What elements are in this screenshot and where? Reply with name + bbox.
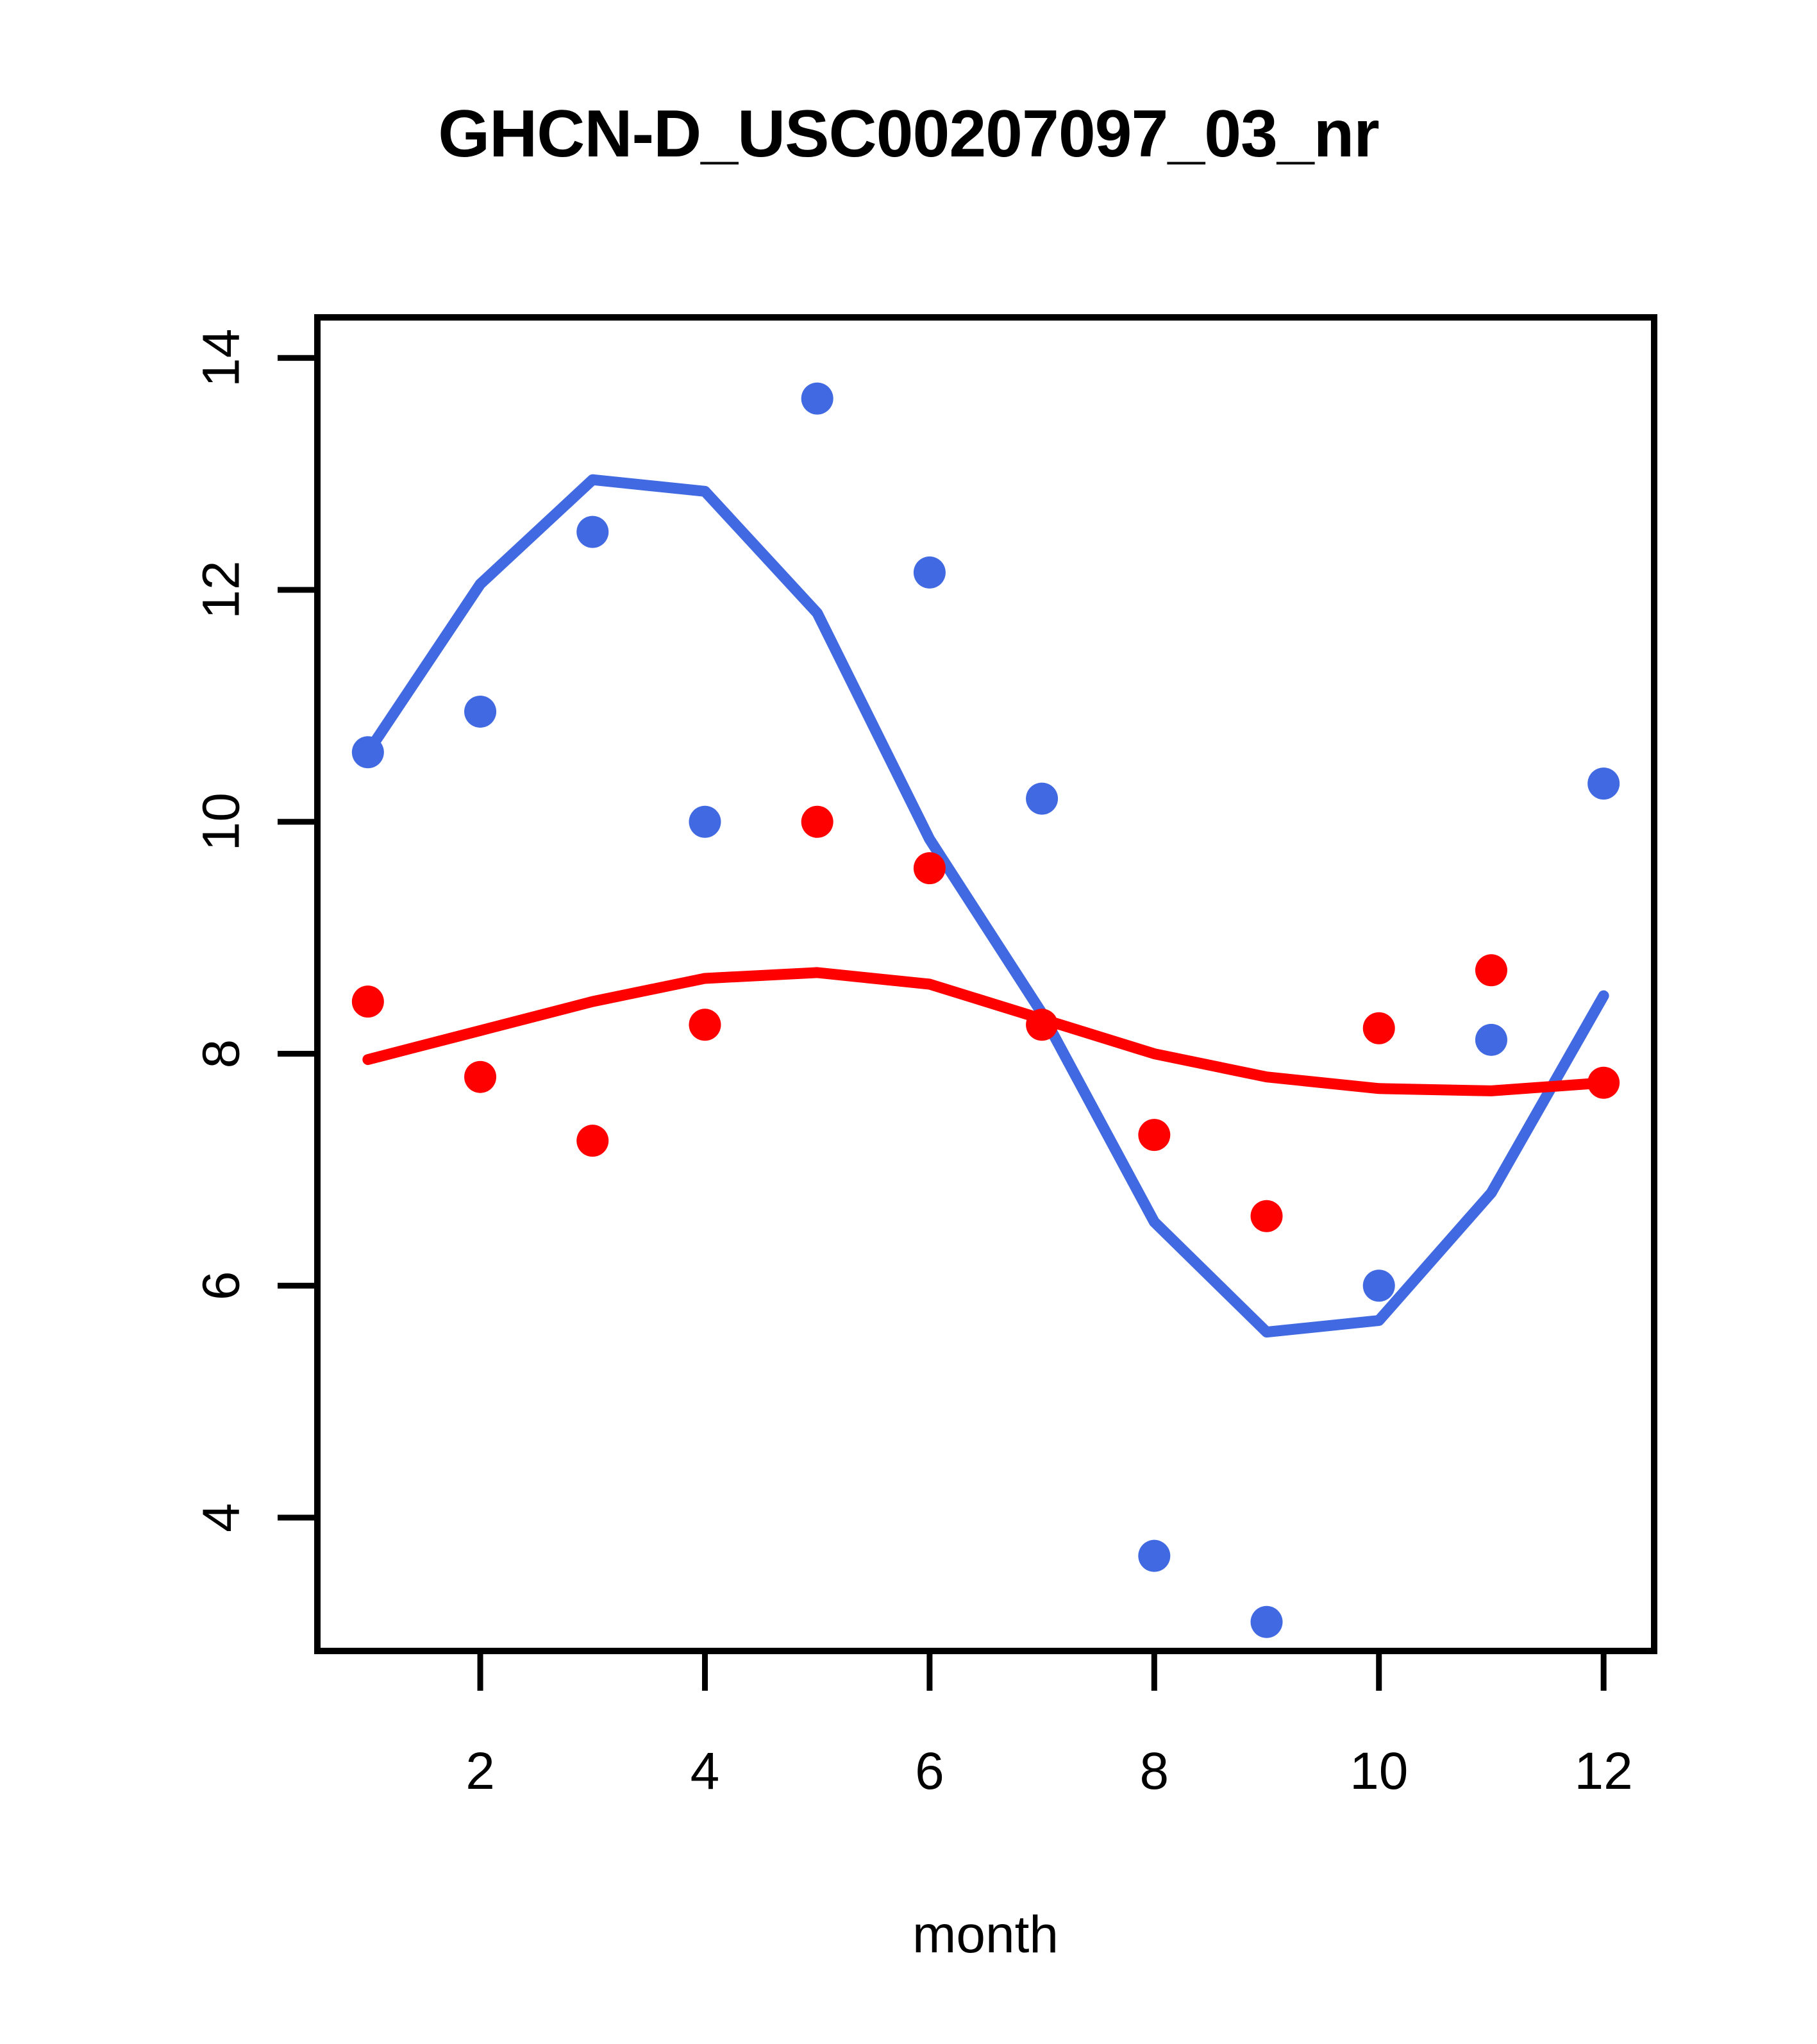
data-point <box>352 985 384 1018</box>
data-point <box>914 557 946 589</box>
data-point <box>464 1061 496 1093</box>
x-axis-ticks <box>480 1651 1603 1691</box>
data-point <box>1138 1540 1170 1572</box>
x-tick-label-4: 4 <box>691 1742 720 1800</box>
data-point <box>1475 954 1507 986</box>
x-tick-label-2: 2 <box>465 1742 495 1800</box>
data-point <box>1363 1012 1395 1044</box>
data-point <box>1251 1200 1283 1232</box>
x-tick-label-8: 8 <box>1140 1742 1169 1800</box>
y-tick-label-12: 12 <box>192 560 251 619</box>
plot-border <box>317 317 1654 1651</box>
data-point <box>1475 1024 1507 1056</box>
data-point <box>576 516 608 548</box>
data-point <box>689 806 721 838</box>
data-point <box>1251 1606 1283 1638</box>
data-point <box>1587 767 1620 800</box>
x-tick-label-12: 12 <box>1575 1742 1633 1800</box>
y-tick-label-14: 14 <box>192 329 251 387</box>
y-tick-label-4: 4 <box>192 1503 251 1532</box>
data-point <box>801 806 833 838</box>
x-tick-label-10: 10 <box>1350 1742 1408 1800</box>
data-point <box>914 852 946 884</box>
x-tick-label-6: 6 <box>915 1742 944 1800</box>
x-axis-title: month <box>912 1906 1059 1964</box>
x-axis-tick-labels: 24681012 <box>465 1742 1633 1800</box>
data-point <box>1363 1269 1395 1302</box>
y-axis-tick-labels: 468101214 <box>192 329 251 1532</box>
y-tick-label-10: 10 <box>192 792 251 851</box>
series-line-blue-line <box>368 480 1603 1332</box>
data-point <box>464 696 496 728</box>
data-point <box>1026 1009 1058 1041</box>
plot-frame <box>317 317 1654 1651</box>
data-point <box>1587 1067 1620 1099</box>
data-point <box>801 383 833 415</box>
data-point <box>1138 1119 1170 1151</box>
data-series-lines <box>368 480 1603 1332</box>
data-point <box>689 1009 721 1041</box>
y-tick-label-8: 8 <box>192 1039 251 1069</box>
data-point <box>352 736 384 768</box>
data-point <box>576 1125 608 1157</box>
series-line-red-line <box>368 973 1603 1091</box>
data-point <box>1026 783 1058 815</box>
chart-plot-area: 24681012 468101214 month <box>0 0 1817 2044</box>
figure-canvas: GHCN-D_USC00207097_03_nr 24681012 468101… <box>0 0 1817 2044</box>
y-tick-label-6: 6 <box>192 1271 251 1300</box>
y-axis-ticks <box>278 358 317 1518</box>
